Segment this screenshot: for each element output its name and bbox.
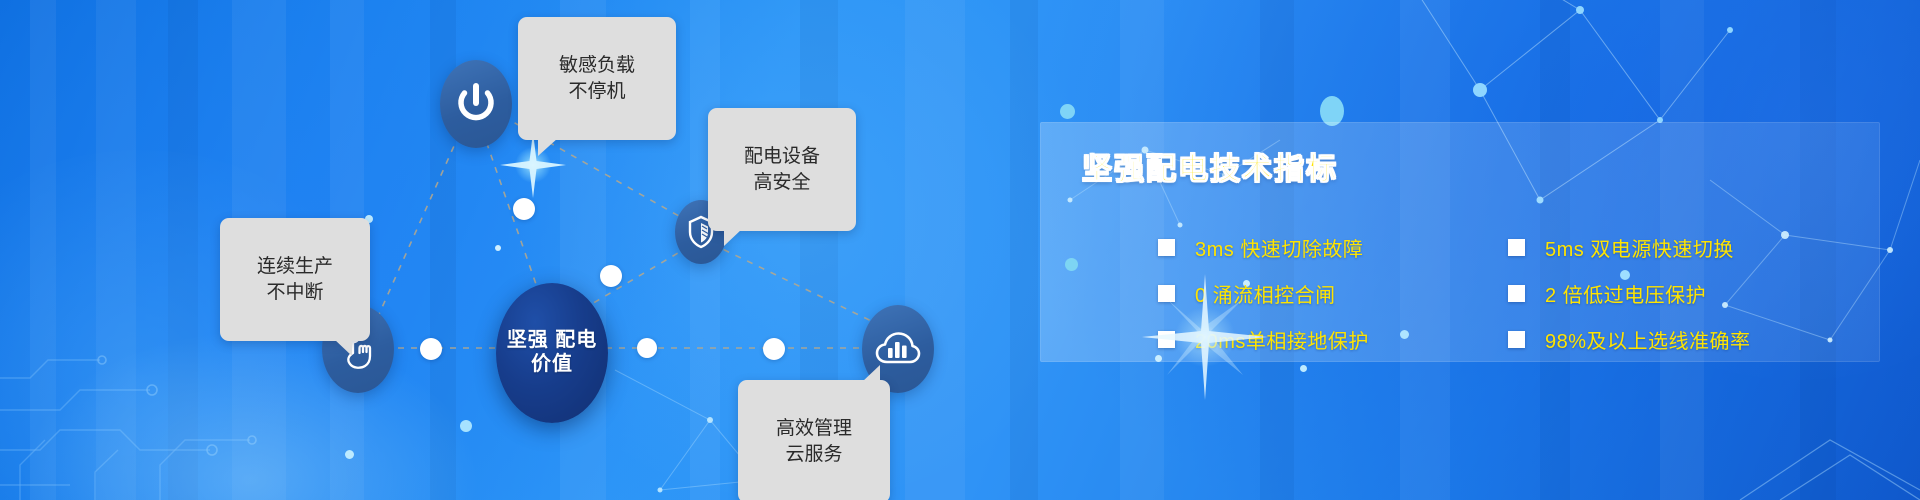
metric-label: 5ms 双电源快速切换 <box>1545 233 1734 262</box>
metric-item: 5ms 双电源快速切换 <box>1508 224 1858 270</box>
bullet-square-icon <box>1158 331 1175 348</box>
callout-right-tail <box>724 229 742 246</box>
center-node-label: 坚强 配电 价值 <box>496 329 608 376</box>
power-icon <box>456 82 496 126</box>
link-dot-4 <box>513 198 535 220</box>
node-power[interactable] <box>440 60 512 148</box>
center-node[interactable]: 坚强 配电 价值 <box>496 283 608 423</box>
bullet-square-icon <box>1508 239 1525 256</box>
callout-top-text: 敏感负载 不停机 <box>559 55 635 101</box>
callout-right: 配电设备 高安全 <box>708 108 856 231</box>
bullet-square-icon <box>1508 285 1525 302</box>
value-diagram: 坚强 配电 价值 敏感负载 不停机 配电设备 高安全 连续生产 不中断 高效管理… <box>0 0 980 500</box>
callout-top: 敏感负载 不停机 <box>518 17 676 140</box>
bubble-1 <box>1060 104 1075 119</box>
link-dot-2 <box>637 338 657 358</box>
callout-top-tail <box>538 138 558 156</box>
metrics-column-left: 3ms 快速切除故障 0 涌流相控合闸 20ms单相接地保护 <box>1158 224 1508 362</box>
metric-item: 0 涌流相控合闸 <box>1158 270 1508 316</box>
callout-bottom: 高效管理 云服务 <box>738 380 890 500</box>
bubble-8 <box>1300 365 1307 372</box>
metric-item: 2 倍低过电压保护 <box>1508 270 1858 316</box>
metric-label: 0 涌流相控合闸 <box>1195 279 1336 308</box>
link-dot-5 <box>600 265 622 287</box>
callout-bottom-text: 高效管理 云服务 <box>776 418 852 464</box>
bullet-square-icon <box>1158 239 1175 256</box>
metrics-column-right: 5ms 双电源快速切换 2 倍低过电压保护 98%及以上选线准确率 <box>1508 224 1858 362</box>
banner-root: 坚强 配电 价值 敏感负载 不停机 配电设备 高安全 连续生产 不中断 高效管理… <box>0 0 1920 500</box>
callout-left-text: 连续生产 不中断 <box>257 256 333 302</box>
metric-item: 20ms单相接地保护 <box>1158 316 1508 362</box>
panel-title: 坚强配电技术指标 <box>1082 144 1338 188</box>
metric-label: 3ms 快速切除故障 <box>1195 233 1363 262</box>
callout-left-tail <box>334 339 352 356</box>
metric-item: 3ms 快速切除故障 <box>1158 224 1508 270</box>
callout-left: 连续生产 不中断 <box>220 218 370 341</box>
metric-label: 2 倍低过电压保护 <box>1545 279 1706 308</box>
metrics-columns: 3ms 快速切除故障 0 涌流相控合闸 20ms单相接地保护 5ms 双电源快速… <box>1158 224 1858 362</box>
bullet-square-icon <box>1508 331 1525 348</box>
metric-item: 98%及以上选线准确率 <box>1508 316 1858 362</box>
callout-bottom-tail <box>862 365 880 382</box>
link-dot-1 <box>420 338 442 360</box>
metric-label: 20ms单相接地保护 <box>1195 325 1369 354</box>
tech-metrics-panel: 坚强配电技术指标 3ms 快速切除故障 0 涌流相控合闸 20ms单相接地保护 <box>1040 122 1880 362</box>
callout-right-text: 配电设备 高安全 <box>744 146 820 192</box>
corner-chevron-decoration <box>1680 380 1920 500</box>
link-dot-3 <box>763 338 785 360</box>
cloud-chart-icon <box>875 330 921 368</box>
metric-label: 98%及以上选线准确率 <box>1545 325 1751 354</box>
bullet-square-icon <box>1158 285 1175 302</box>
